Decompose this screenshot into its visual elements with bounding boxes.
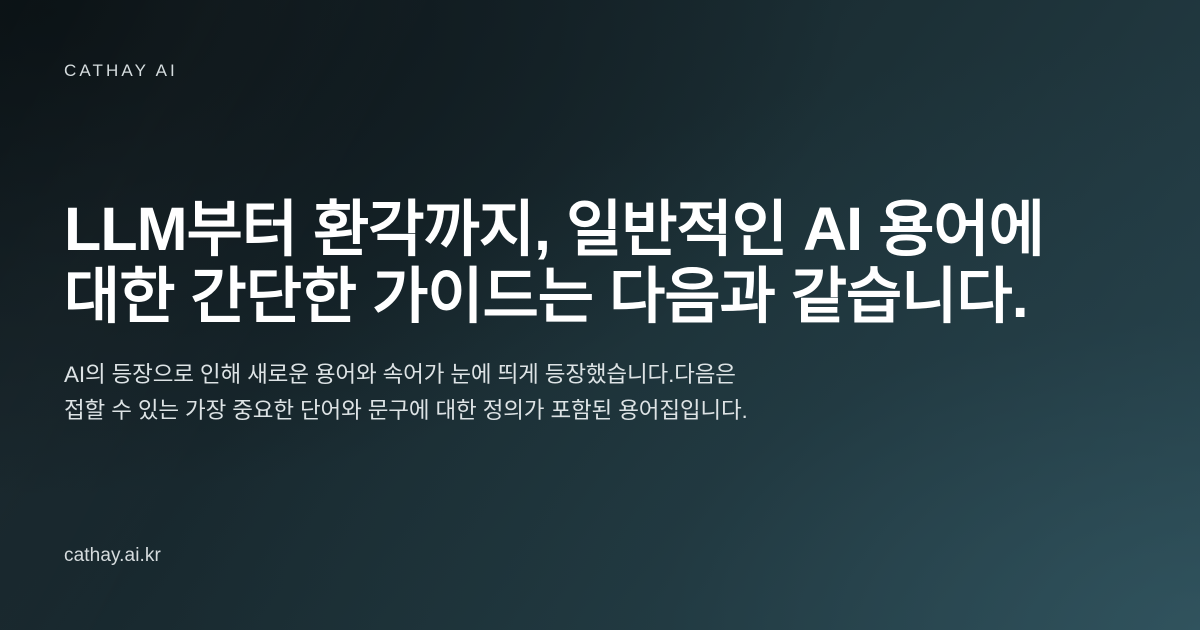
headline-line-1: LLM부터 환각까지, 일반적인 AI 용어에 [64, 196, 1064, 263]
subtitle-line-1: AI의 등장으로 인해 새로운 용어와 속어가 눈에 띄게 등장했습니다.다음은 [64, 357, 1024, 393]
subtitle-line-2: 접할 수 있는 가장 중요한 단어와 문구에 대한 정의가 포함된 용어집입니다… [64, 393, 1024, 429]
page-subtitle: AI의 등장으로 인해 새로운 용어와 속어가 눈에 띄게 등장했습니다.다음은… [64, 357, 1024, 429]
card-content: CATHAY AI LLM부터 환각까지, 일반적인 AI 용어에 대한 간단한… [0, 0, 1200, 630]
site-url[interactable]: cathay.ai.kr [64, 546, 161, 565]
brand-wordmark: CATHAY AI [64, 62, 178, 79]
page-title: LLM부터 환각까지, 일반적인 AI 용어에 대한 간단한 가이드는 다음과 … [64, 196, 1064, 330]
headline-line-2: 대한 간단한 가이드는 다음과 같습니다. [64, 263, 1064, 330]
social-share-card: CATHAY AI LLM부터 환각까지, 일반적인 AI 용어에 대한 간단한… [0, 0, 1200, 630]
